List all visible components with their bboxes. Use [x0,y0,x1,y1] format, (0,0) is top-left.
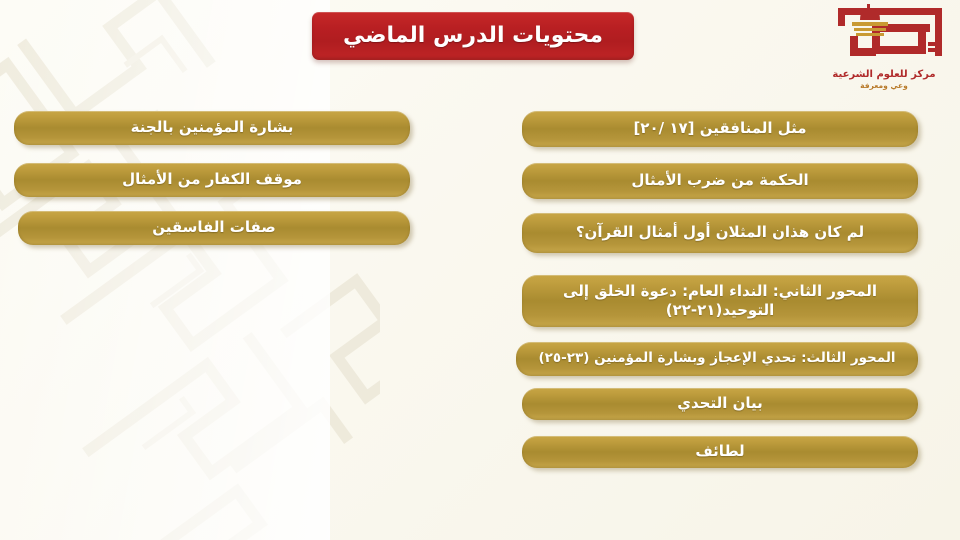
list-item-label: المحور الثالث: تحدي الإعجاز وبشارة المؤم… [538,350,895,367]
logo-tagline: وعي ومعرفة [820,81,948,90]
list-item-label: بشارة المؤمنين بالجنة [131,118,294,137]
watermark-fade-overlay [0,0,330,540]
list-item-right-4[interactable]: المحور الثاني: النداء العام: دعوة الخلق … [522,275,918,327]
list-item-left-1[interactable]: بشارة المؤمنين بالجنة [14,111,410,145]
list-item-right-5[interactable]: المحور الثالث: تحدي الإعجاز وبشارة المؤم… [516,342,918,376]
list-item-label: المحور الثاني: النداء العام: دعوة الخلق … [536,282,904,320]
ihkam-logo-icon [820,4,948,68]
list-item-label: بيان التحدي [677,394,763,413]
list-item-label: صفات الفاسقين [152,218,276,237]
list-item-right-3[interactable]: لم كان هذان المثلان أول أمثال القرآن؟ [522,213,918,253]
brand-logo: مركز للعلوم الشرعية وعي ومعرفة [820,4,948,96]
list-item-label: لطائف [695,442,744,461]
list-item-label: موقف الكفار من الأمثال [122,170,302,189]
list-item-label: الحكمة من ضرب الأمثال [631,171,808,190]
list-item-label: لم كان هذان المثلان أول أمثال القرآن؟ [576,223,864,242]
list-item-left-3[interactable]: صفات الفاسقين [18,211,410,245]
logo-subtitle: مركز للعلوم الشرعية [820,69,948,80]
slide-canvas: محتويات الدرس الماضي مركز للعلوم الشرعية… [0,0,960,540]
list-item-right-1[interactable]: مثل المنافقين [١٧ /٢٠] [522,111,918,147]
list-item-left-2[interactable]: موقف الكفار من الأمثال [14,163,410,197]
list-item-right-7[interactable]: لطائف [522,436,918,468]
list-item-right-6[interactable]: بيان التحدي [522,388,918,420]
slide-title-banner: محتويات الدرس الماضي [312,12,634,60]
list-item-label: مثل المنافقين [١٧ /٢٠] [633,119,806,138]
kufic-calligraphy-watermark [0,0,380,540]
list-item-right-2[interactable]: الحكمة من ضرب الأمثال [522,163,918,199]
page-title: محتويات الدرس الماضي [343,25,603,47]
